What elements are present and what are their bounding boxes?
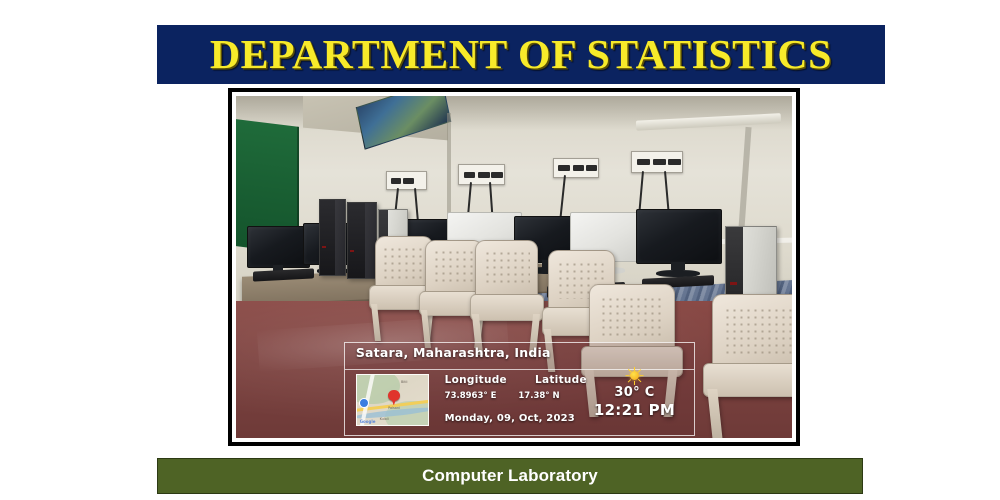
wall-socket — [458, 164, 504, 185]
longitude-value: 73.8963° E — [445, 391, 497, 401]
caption-label: Computer Laboratory — [422, 466, 598, 486]
gps-datetime-text: Monday, 09, Oct, 2023 — [445, 413, 575, 424]
gps-temperature: 30° C — [586, 385, 684, 400]
sun-icon — [626, 367, 643, 384]
wall-socket — [553, 158, 599, 179]
latitude-label: Latitude — [535, 374, 587, 386]
latitude-value: 17.38° N — [518, 391, 559, 401]
wall-socket — [631, 151, 683, 174]
plastic-chair — [470, 240, 542, 353]
cpu-tower — [319, 199, 346, 276]
gps-location-text: Satara, Maharashtra, India — [356, 345, 551, 360]
wall-socket — [386, 171, 427, 190]
page-title: DEPARTMENT OF STATISTICS — [210, 34, 832, 75]
photo-mat: Satara, Maharashtra, India — [232, 92, 796, 442]
caption-bar: Computer Laboratory — [157, 458, 863, 494]
map-thumbnail: Bitli Palsani Kuloli Google — [356, 374, 429, 426]
map-provider-logo: Google — [360, 419, 376, 424]
plastic-chair — [703, 294, 792, 438]
header-banner: DEPARTMENT OF STATISTICS — [157, 25, 885, 84]
slide-root: DEPARTMENT OF STATISTICS — [0, 0, 1000, 500]
map-label-main: Palsani — [388, 406, 400, 410]
lab-photo: Satara, Maharashtra, India — [236, 96, 792, 438]
gps-map-camera-stamp: Satara, Maharashtra, India — [344, 342, 694, 436]
map-blue-dot-icon — [359, 398, 369, 408]
gps-coordinate-labels: LongitudeLatitude — [445, 374, 587, 386]
photo-frame: Satara, Maharashtra, India — [228, 88, 800, 446]
longitude-label: Longitude — [445, 374, 507, 386]
map-label-top: Bitli — [401, 380, 407, 384]
monitor — [636, 209, 719, 277]
gps-weather-block: 30° C 12:21 PM — [586, 367, 684, 419]
photo-scene: Satara, Maharashtra, India — [236, 96, 792, 438]
gps-time: 12:21 PM — [586, 401, 684, 419]
map-pin-icon — [388, 390, 399, 405]
map-label-bottom: Kuloli — [380, 417, 389, 421]
gps-coordinate-values: 73.8963° E17.38° N — [445, 391, 560, 401]
